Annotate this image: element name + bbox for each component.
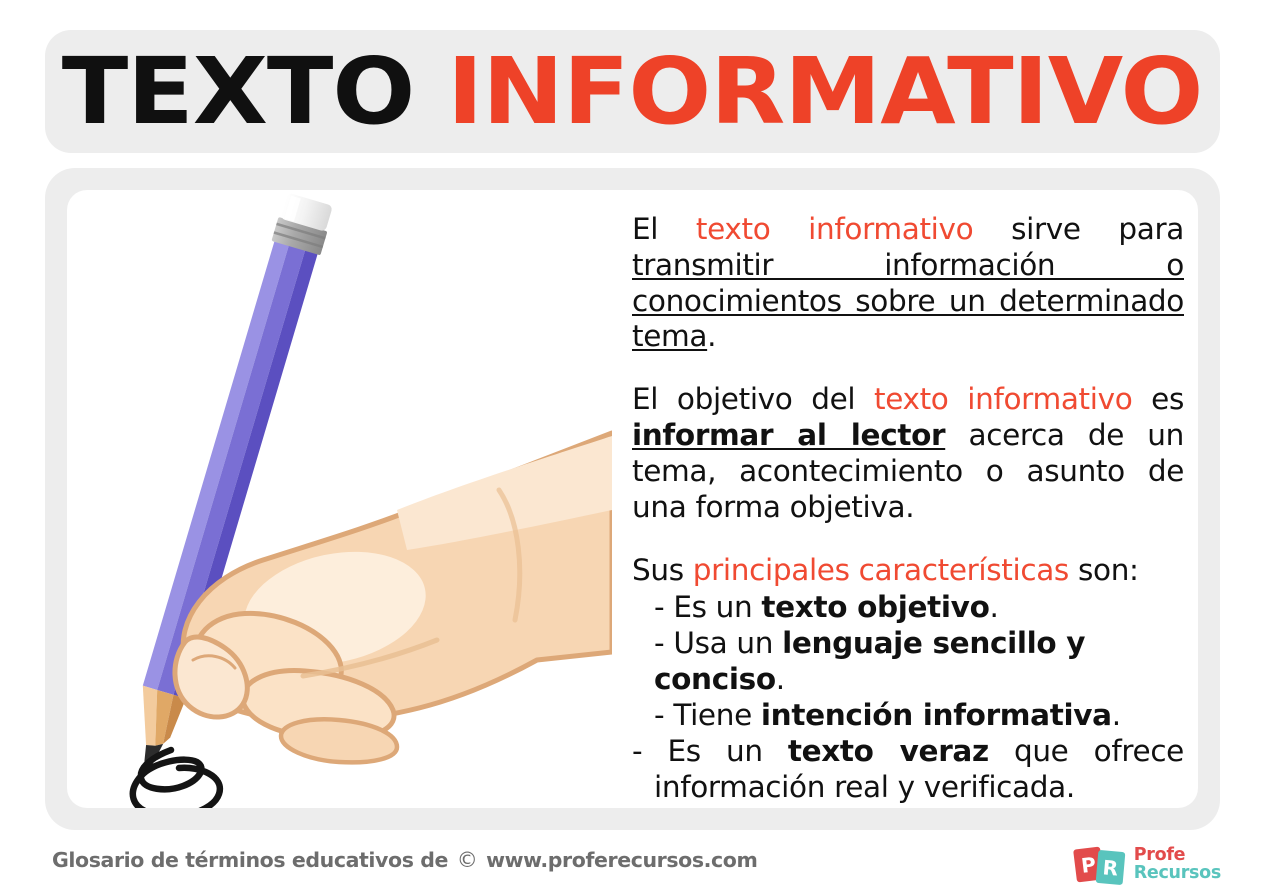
title-space [415, 38, 448, 145]
p1-seg3: sirve para [973, 212, 1184, 246]
bullet-1-plain1: Usa un [673, 626, 782, 660]
bullet-3-dash: - [632, 734, 667, 768]
p3-seg1: Sus [632, 553, 693, 587]
title-word-dark: TEXTO [62, 38, 414, 145]
footer-site-url: www.proferecursos.com [479, 848, 757, 872]
list-item: - Usa un lenguaje sencillo y conciso. [654, 626, 1184, 698]
p2-seg1: El objetivo del [632, 382, 874, 416]
bullet-2-plain2: . [1112, 698, 1121, 732]
hand-pencil-illustration [67, 190, 612, 808]
bullet-0-dash: - [654, 590, 673, 624]
content-card: El texto informativo sirve para transmit… [67, 190, 1198, 808]
copyright-icon: © [455, 848, 480, 872]
bullet-3-plain1: Es un [667, 734, 787, 768]
bullet-1-plain2: . [776, 662, 785, 696]
p1-seg1: El [632, 212, 696, 246]
p1-keyword-red: texto informativo [696, 212, 973, 246]
bullet-2-plain1: Tiene [673, 698, 761, 732]
body-text-column: El texto informativo sirve para transmit… [632, 212, 1184, 802]
bullet-0-plain1: Es un [673, 590, 761, 624]
p2-keyword-red: texto informativo [874, 382, 1132, 416]
footer-credit: Glosario de términos educativos de © www… [52, 848, 757, 872]
footer-credit-prefix: Glosario de términos educativos de [52, 848, 455, 872]
p3-seg3: son: [1069, 553, 1139, 587]
logo-tiles: P R [1075, 845, 1127, 885]
title-bar: TEXTO INFORMATIVO [45, 30, 1220, 153]
bullet-2-bold: intención informativa [761, 698, 1112, 732]
infographic-poster: TEXTO INFORMATIVO [0, 0, 1263, 893]
p2-seg3: es [1132, 382, 1184, 416]
characteristics-list: - Es un texto objetivo. - Usa un lenguaj… [632, 590, 1184, 805]
p1-seg5: . [707, 319, 716, 353]
logo-wordmark: Profe Recursos [1134, 847, 1221, 883]
proferecursos-logo[interactable]: P R Profe Recursos [1075, 842, 1221, 888]
bullet-1-dash: - [654, 626, 673, 660]
bullet-0-bold: texto objetivo [761, 590, 989, 624]
main-panel: El texto informativo sirve para transmit… [45, 168, 1220, 830]
logo-word-recursos: Recursos [1134, 865, 1221, 883]
bullet-2-dash: - [654, 698, 673, 732]
list-item: - Es un texto objetivo. [654, 590, 1184, 626]
list-item: - Es un texto veraz que ofrece informaci… [654, 734, 1184, 806]
paragraph-definition: El texto informativo sirve para transmit… [632, 212, 1184, 355]
logo-tile-r: R [1095, 850, 1125, 885]
footer: Glosario de términos educativos de © www… [0, 838, 1263, 893]
list-item: - Tiene intención informativa. [654, 698, 1184, 734]
paragraph-characteristics-intro: Sus principales características son: [632, 553, 1184, 589]
paragraph-objective: El objetivo del texto informativo es inf… [632, 382, 1184, 525]
bullet-0-plain2: . [989, 590, 998, 624]
p2-bold-underlined-phrase: informar al lector [632, 418, 945, 452]
bullet-3-bold: texto veraz [788, 734, 989, 768]
page-title: TEXTO INFORMATIVO [62, 46, 1203, 138]
p3-keyword-red: principales características [693, 553, 1069, 587]
title-word-red: INFORMATIVO [448, 38, 1203, 145]
